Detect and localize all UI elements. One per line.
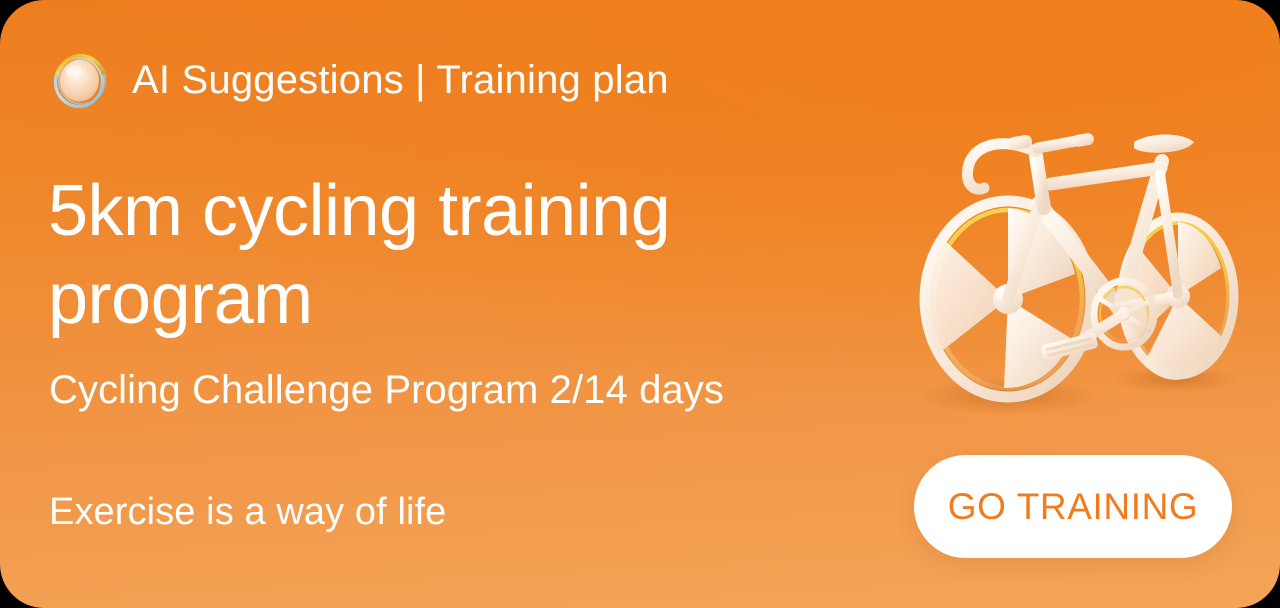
- program-subtitle: Cycling Challenge Program 2/14 days: [49, 366, 724, 414]
- bicycle-illustration: [876, 96, 1248, 426]
- motivational-tagline: Exercise is a way of life: [49, 490, 446, 536]
- card-header: AI Suggestions | Training plan: [52, 50, 669, 110]
- page-title: 5km cycling training program: [48, 168, 748, 344]
- ai-orb-icon: [52, 51, 108, 109]
- training-plan-card: AI Suggestions | Training plan 5km cycli…: [0, 0, 1280, 608]
- go-training-button[interactable]: GO TRAINING: [914, 455, 1232, 558]
- header-title: AI Suggestions | Training plan: [132, 60, 669, 100]
